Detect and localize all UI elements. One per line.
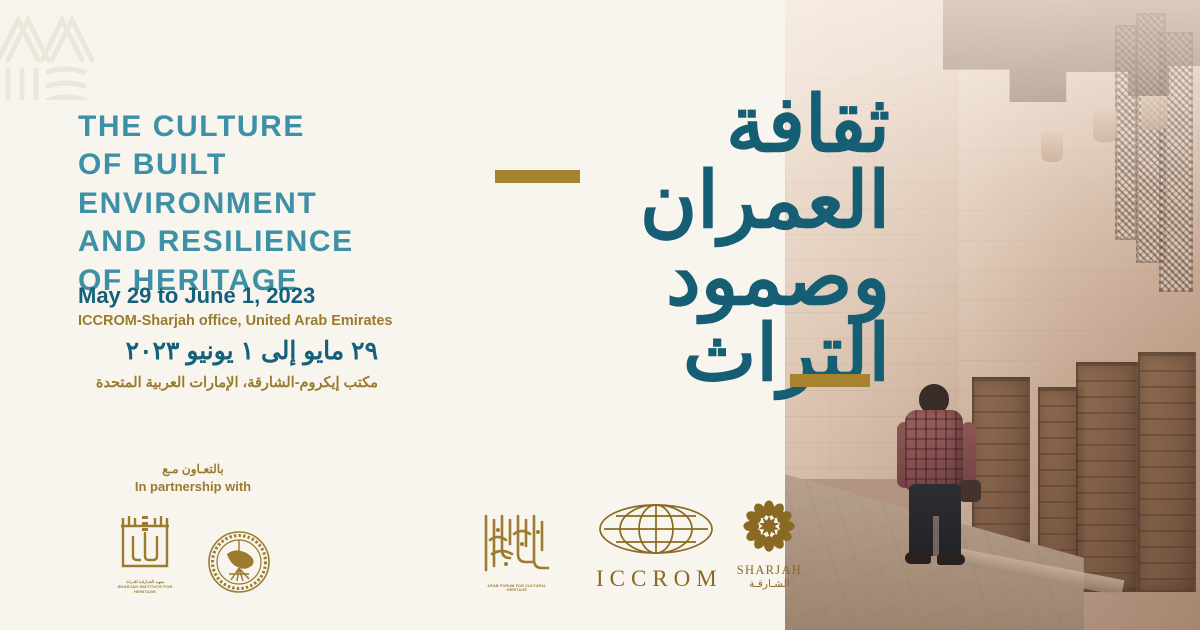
event-location-english: ICCROM-Sharjah office, United Arab Emira…: [78, 313, 393, 329]
sharjah-institute-for-heritage-logo: معهـد الشـارقـة للتـراث SHARJAH INSTITUT…: [115, 508, 175, 594]
sharjah-logo: SHARJAH الشـارقـة: [737, 500, 802, 592]
headline-arabic: ثقافة العمران وصمود التراث: [470, 86, 890, 392]
iccrom-wordmark: ICCROM: [590, 566, 723, 592]
arab-forum-for-cultural-heritage-logo: ARAB FORUM FOR CULTURAL HERITAGE: [480, 510, 554, 592]
iccrom-logo: ICCROM: [590, 500, 723, 592]
partnership-label-english: In partnership with: [78, 479, 308, 494]
event-banner: ثقافة العمران وصمود التراث THE CULTURE O…: [0, 0, 1200, 630]
partnership-label-arabic: بالتعـاون مـع: [78, 462, 308, 476]
arab-forum-caption: ARAB FORUM FOR CULTURAL HERITAGE: [480, 584, 554, 592]
partner-logo-row: معهـد الشـارقـة للتـراث SHARJAH INSTITUT…: [78, 508, 308, 594]
partnership-label-block: بالتعـاون مـع In partnership with: [78, 462, 308, 494]
iccrom-sharjah-logo-group: ICCROM: [590, 500, 802, 592]
left-text-column: THE CULTURE OF BUILT ENVIRONMENT AND RES…: [78, 0, 478, 630]
sharjah-institute-caption: معهـد الشـارقـة للتـراث SHARJAH INSTITUT…: [115, 579, 175, 594]
alecso-logo: [207, 530, 271, 594]
event-date-arabic: ٢٩ مايو إلى ١ يونيو ٢٠٢٣: [78, 336, 378, 366]
sharjah-wordmark-arabic: الشـارقـة: [737, 578, 802, 590]
sharjah-wordmark-english: SHARJAH: [737, 563, 802, 578]
organizer-logo-row: ARAB FORUM FOR CULTURAL HERITAGE ICCR: [480, 500, 802, 592]
gold-dash-bottom: [790, 374, 870, 387]
event-location-arabic: مكتب إيكروم-الشارقة، الإمارات العربية ال…: [78, 375, 378, 391]
headline-english: THE CULTURE OF BUILT ENVIRONMENT AND RES…: [78, 108, 354, 300]
event-date-english: May 29 to June 1, 2023: [78, 283, 315, 309]
gold-dash-top: [495, 170, 580, 183]
